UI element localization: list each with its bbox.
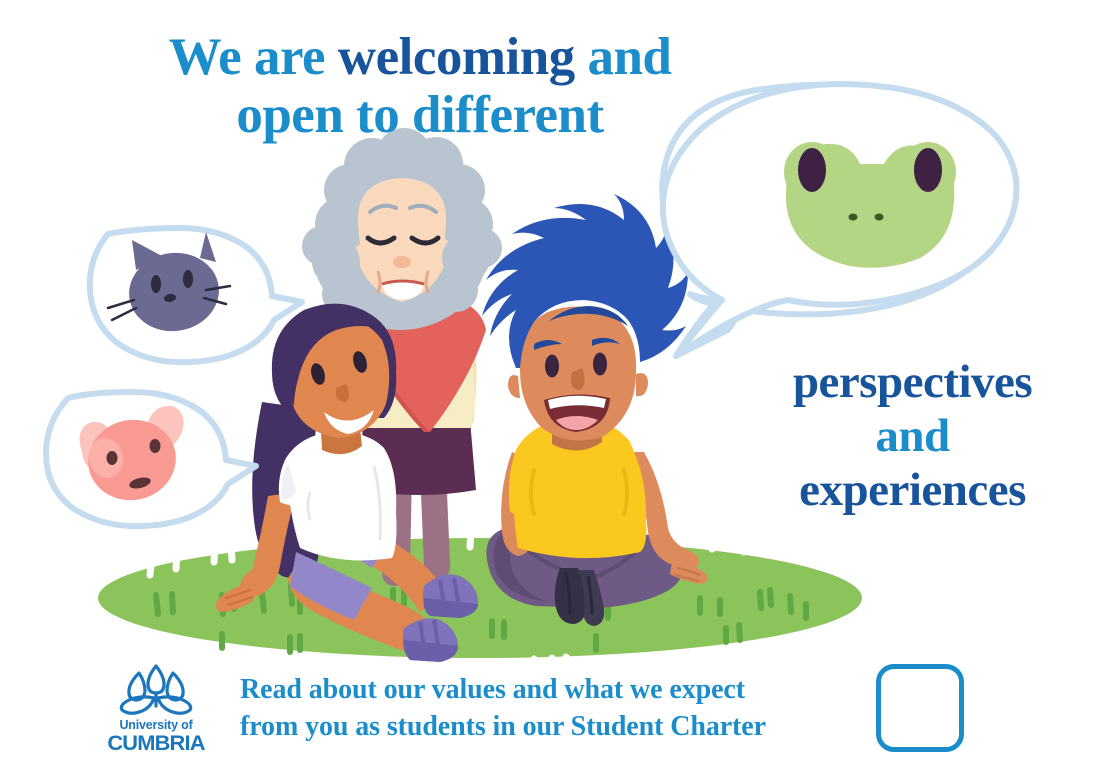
headline-l1-part1: We are — [169, 28, 338, 86]
speech-bubble-cat — [90, 228, 302, 362]
headline-line-1: We are welcoming and — [70, 28, 770, 86]
logo-cumbria-word: CUMBRIA — [106, 733, 206, 754]
caption-line-2: from you as students in our Student Char… — [240, 709, 865, 746]
headline: We are welcoming and open to different — [70, 28, 770, 145]
figure-boy — [482, 194, 708, 626]
pig-face-icon — [80, 406, 184, 508]
charter-caption: Read about our values and what we expect… — [240, 672, 865, 746]
logo-university-word: University of — [108, 719, 204, 732]
qr-code-placeholder-box[interactable] — [876, 664, 964, 752]
university-of-cumbria-logo: University of CUMBRIA — [108, 662, 204, 758]
headline-line-2: open to different — [70, 86, 770, 144]
right-headline-line-3: experiences — [735, 463, 1090, 517]
caption-line-1: Read about our values and what we expect — [240, 672, 865, 709]
poster-canvas: We are welcoming and open to different p… — [0, 0, 1100, 778]
figure-girl — [216, 304, 478, 662]
right-headline-line-1: perspectives — [735, 355, 1090, 409]
leaf-flame-plant-icon — [108, 662, 204, 718]
cat-face-icon — [108, 232, 230, 337]
right-headline-line-2: and — [735, 409, 1090, 463]
speech-bubble-pig — [46, 392, 256, 526]
figure-elderly-woman — [302, 128, 502, 586]
headline-l1-part3: and — [575, 28, 672, 86]
frog-face-icon — [784, 142, 956, 268]
headline-l1-part2: welcoming — [338, 28, 575, 86]
right-headline: perspectives and experiences — [735, 355, 1090, 517]
grass-ellipse — [98, 524, 862, 675]
